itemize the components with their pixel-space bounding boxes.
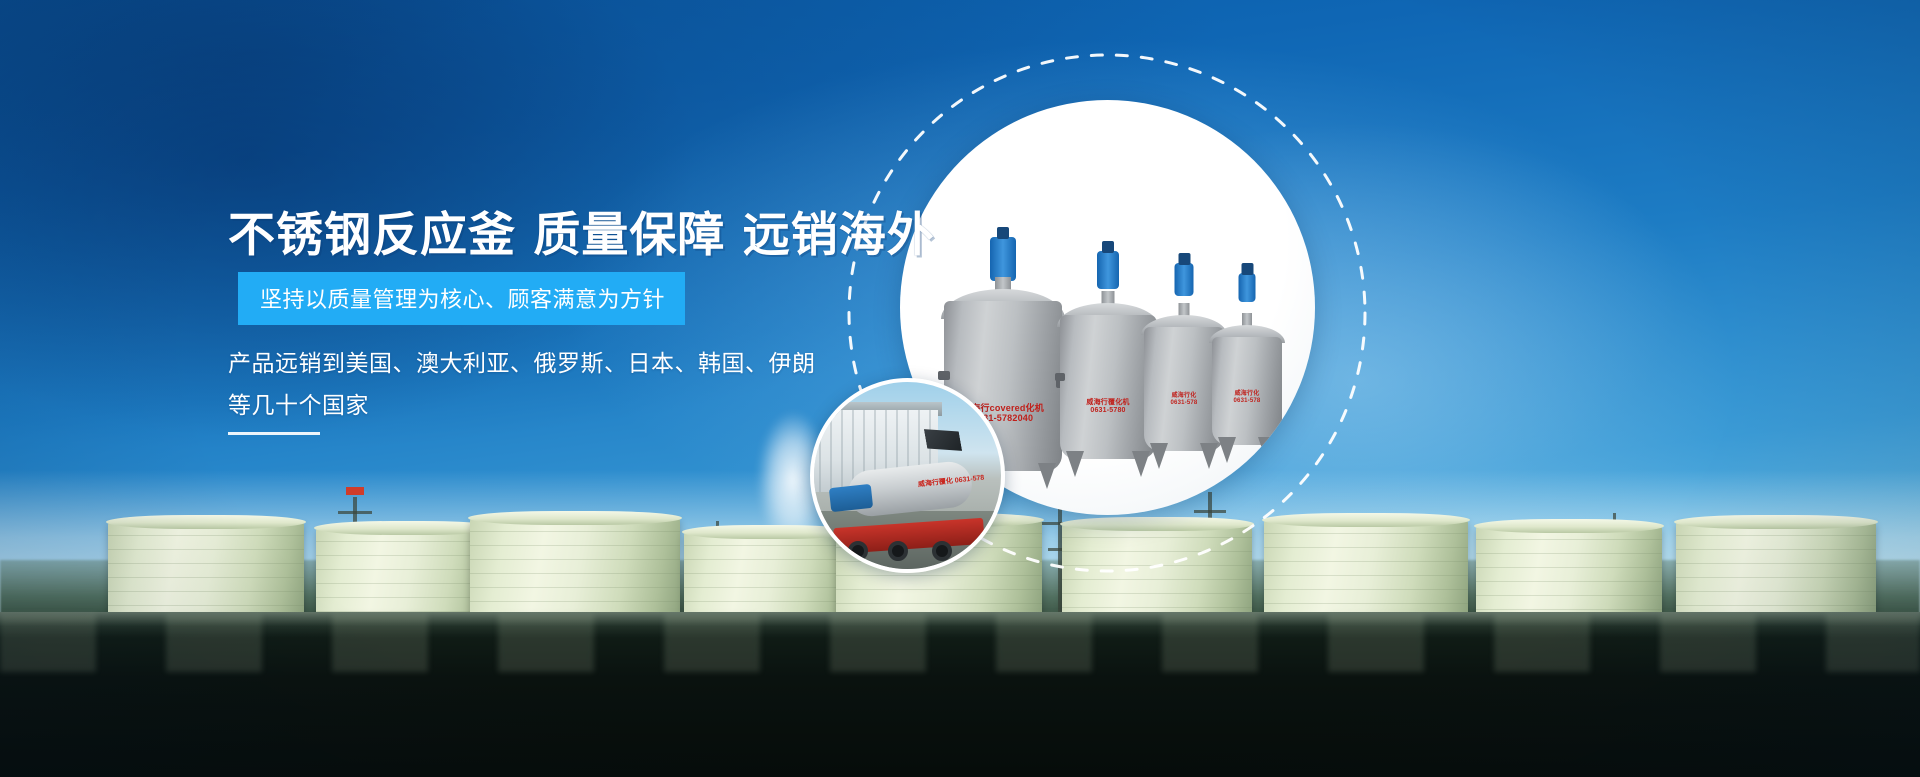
vessel-label-line1: 威海行覆化机 bbox=[1086, 399, 1129, 407]
vessel-leg bbox=[1218, 437, 1236, 463]
vessel-label: 威海行覆化机 0631-5780 bbox=[1086, 399, 1129, 415]
truck-wheel bbox=[848, 541, 868, 561]
vessel-port bbox=[1055, 373, 1065, 381]
truck-wheel bbox=[888, 541, 908, 561]
vessel-motor bbox=[990, 237, 1016, 281]
divider-rule bbox=[228, 432, 320, 435]
water-reflections bbox=[0, 614, 1920, 672]
banner-body-text: 产品远销到美国、澳大利亚、俄罗斯、日本、韩国、伊朗 等几十个国家 bbox=[228, 342, 816, 426]
storage-tank bbox=[1676, 522, 1876, 618]
vessel-leg bbox=[1132, 451, 1150, 477]
vessel-label-line1: 威海行化 bbox=[1171, 393, 1198, 400]
vessel-leg bbox=[1258, 437, 1276, 463]
vessel-leg bbox=[1200, 443, 1218, 469]
vessel-label: 威海行化 0631-578 bbox=[1234, 391, 1261, 405]
vessel-label-line2: 0631-578 bbox=[1171, 400, 1198, 407]
vessel-leg bbox=[1066, 451, 1084, 477]
banner-headline: 不锈钢反应釜 质量保障 远销海外 bbox=[228, 196, 935, 265]
vessel-leg bbox=[1038, 463, 1056, 489]
vessel-port bbox=[938, 371, 950, 380]
inset-photo-circle: 威海行覆化 0631-578 bbox=[810, 378, 1005, 573]
vessel-label: 威海行化 0631-578 bbox=[1171, 393, 1198, 407]
reactor-vessel: 威海行覆化机 0631-5780 bbox=[1060, 277, 1156, 459]
banner-subtitle-bar: 坚持以质量管理为核心、顾客满意为方针 bbox=[238, 272, 685, 325]
vessel-body bbox=[1060, 315, 1156, 459]
body-line-2: 等几十个国家 bbox=[228, 384, 816, 426]
vessel-label-line1: 威海行化 bbox=[1234, 391, 1261, 398]
hero-banner: 威海行covered化机 0631-5782040 威海行覆化机 0631-57… bbox=[0, 0, 1920, 777]
vessel-label-line2: 0631-5780 bbox=[1086, 407, 1129, 415]
truck-wheel bbox=[932, 541, 952, 561]
vessel-leg bbox=[1150, 443, 1168, 469]
inset-vessel-motor bbox=[829, 484, 873, 512]
vessel-motor bbox=[1097, 251, 1119, 289]
vessel-motor bbox=[1239, 273, 1256, 302]
vessel-motor bbox=[1175, 263, 1194, 296]
storage-tank bbox=[108, 522, 304, 618]
storage-tank bbox=[1476, 526, 1662, 618]
vessel-label-line2: 0631-578 bbox=[1234, 398, 1261, 405]
reactor-vessel: 威海行化 0631-578 bbox=[1212, 299, 1282, 445]
body-line-1: 产品远销到美国、澳大利亚、俄罗斯、日本、韩国、伊朗 bbox=[228, 342, 816, 384]
storage-tank bbox=[470, 518, 680, 618]
